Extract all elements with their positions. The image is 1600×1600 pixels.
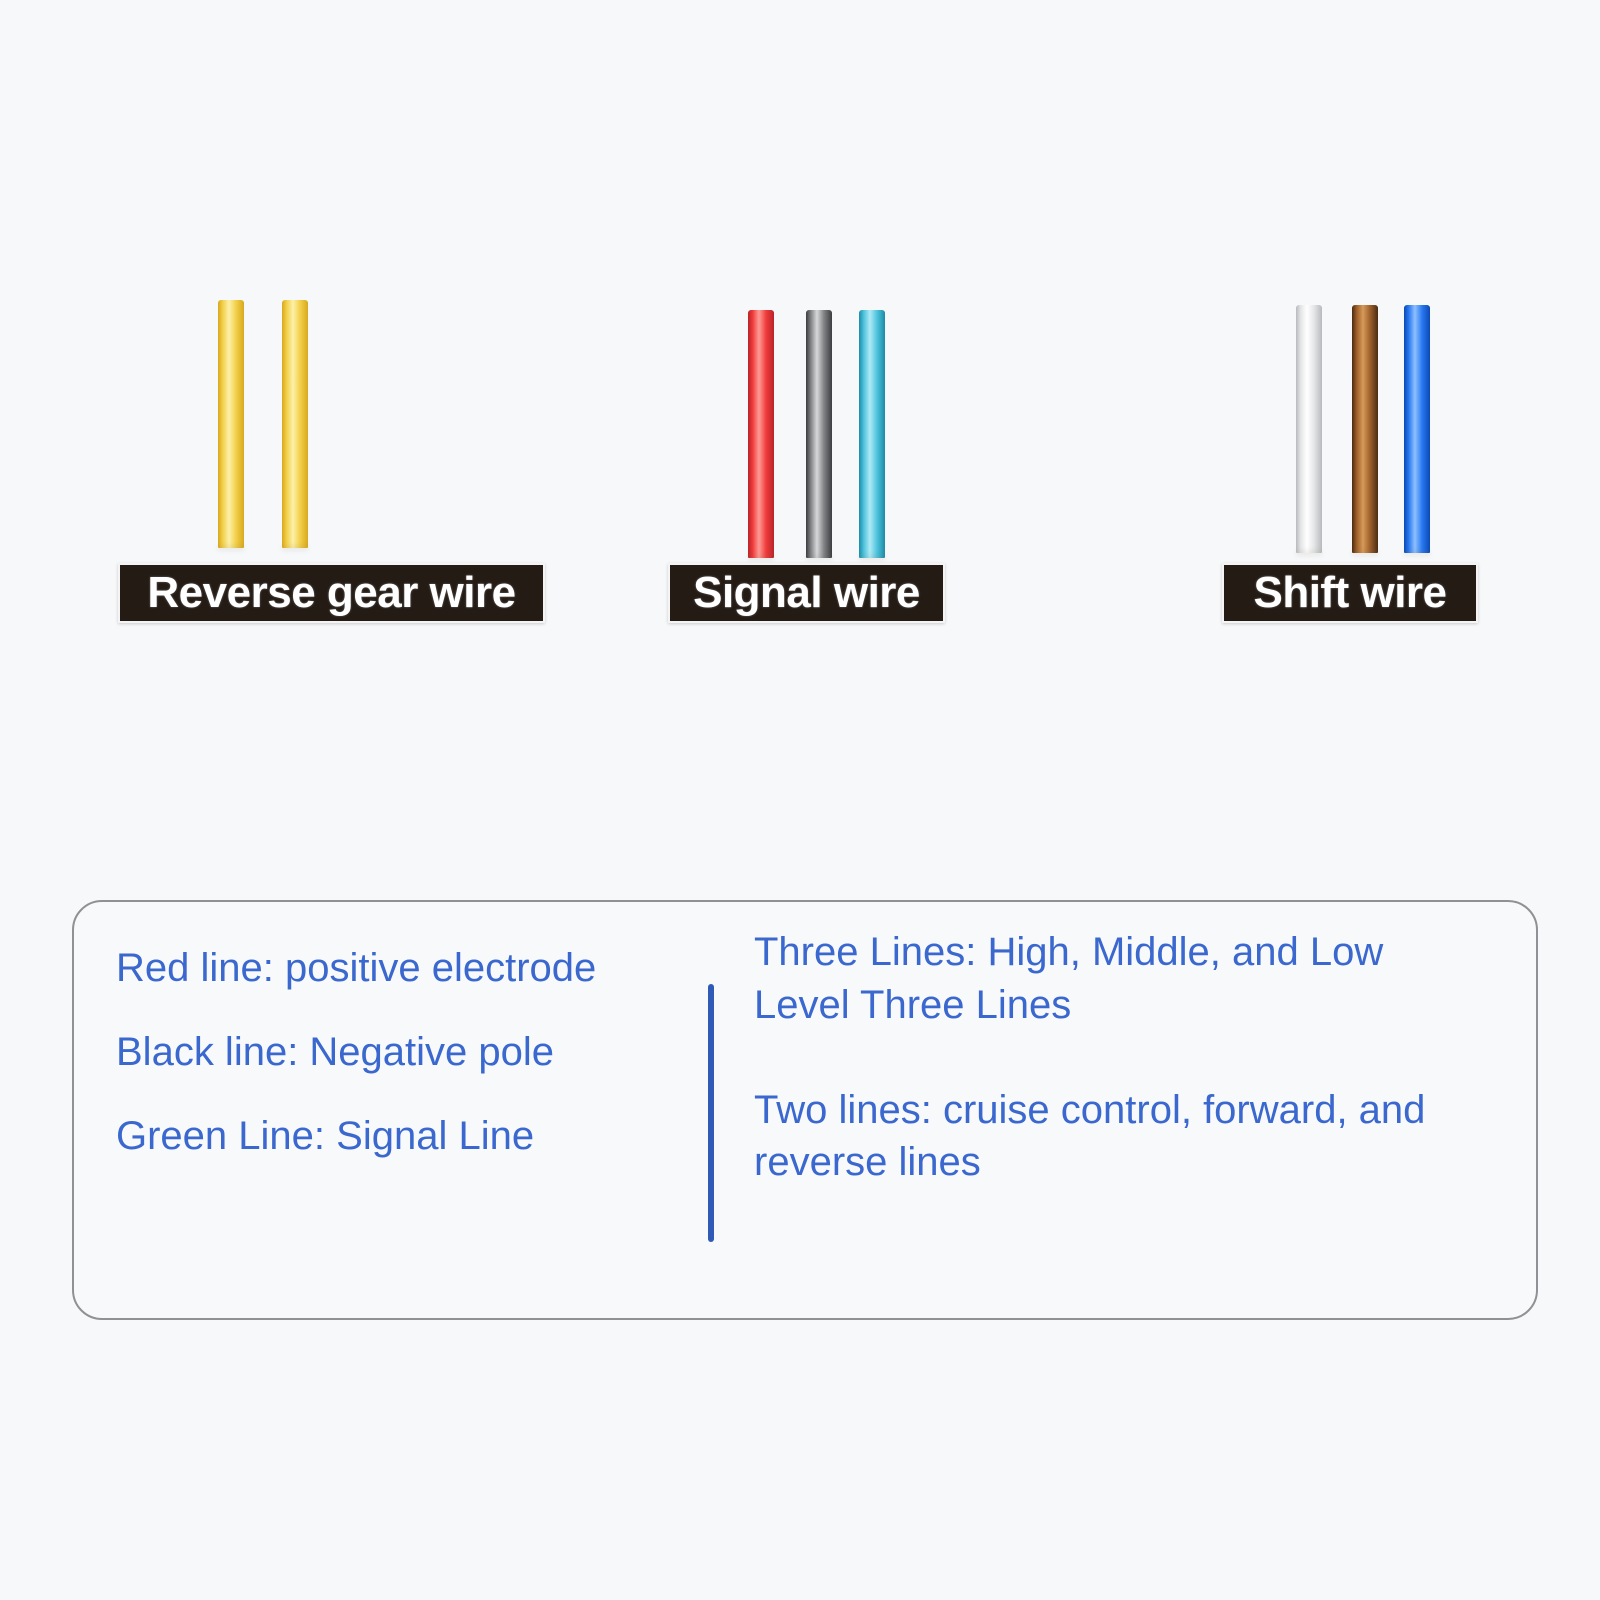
info-line-black: Black line: Negative pole <box>116 1032 708 1072</box>
wire-label-reverse-gear: Reverse gear wire <box>118 563 545 623</box>
wire-label-text: Signal wire <box>693 571 920 615</box>
yellow-wire-1 <box>218 300 244 548</box>
wire-label-shift: Shift wire <box>1222 563 1478 623</box>
info-paragraph-two-lines: Two lines: cruise control, forward, and … <box>754 1084 1464 1190</box>
wire-bundle-reverse-gear <box>218 300 308 548</box>
cyan-wire <box>859 310 885 558</box>
yellow-wire-2 <box>282 300 308 548</box>
info-card: Red line: positive electrode Black line:… <box>72 900 1538 1320</box>
info-column-divider <box>708 984 714 1242</box>
wire-label-text: Reverse gear wire <box>147 571 515 615</box>
info-line-green: Green Line: Signal Line <box>116 1116 708 1156</box>
info-card-content: Red line: positive electrode Black line:… <box>74 902 1536 1318</box>
gray-wire <box>806 310 832 558</box>
red-wire <box>748 310 774 558</box>
white-wire <box>1296 305 1322 553</box>
info-line-red: Red line: positive electrode <box>116 948 708 988</box>
blue-wire <box>1404 305 1430 553</box>
diagram-canvas: Reverse gear wire Signal wire Shift wire… <box>0 0 1600 1600</box>
brown-wire <box>1352 305 1378 553</box>
wire-bundle-shift <box>1296 305 1430 553</box>
wire-label-text: Shift wire <box>1253 571 1446 615</box>
wire-bundle-signal <box>748 310 885 558</box>
wire-label-signal: Signal wire <box>668 563 945 623</box>
info-column-left: Red line: positive electrode Black line:… <box>74 902 708 1318</box>
info-paragraph-three-lines: Three Lines: High, Middle, and Low Level… <box>754 926 1464 1032</box>
info-column-right: Three Lines: High, Middle, and Low Level… <box>708 902 1536 1318</box>
